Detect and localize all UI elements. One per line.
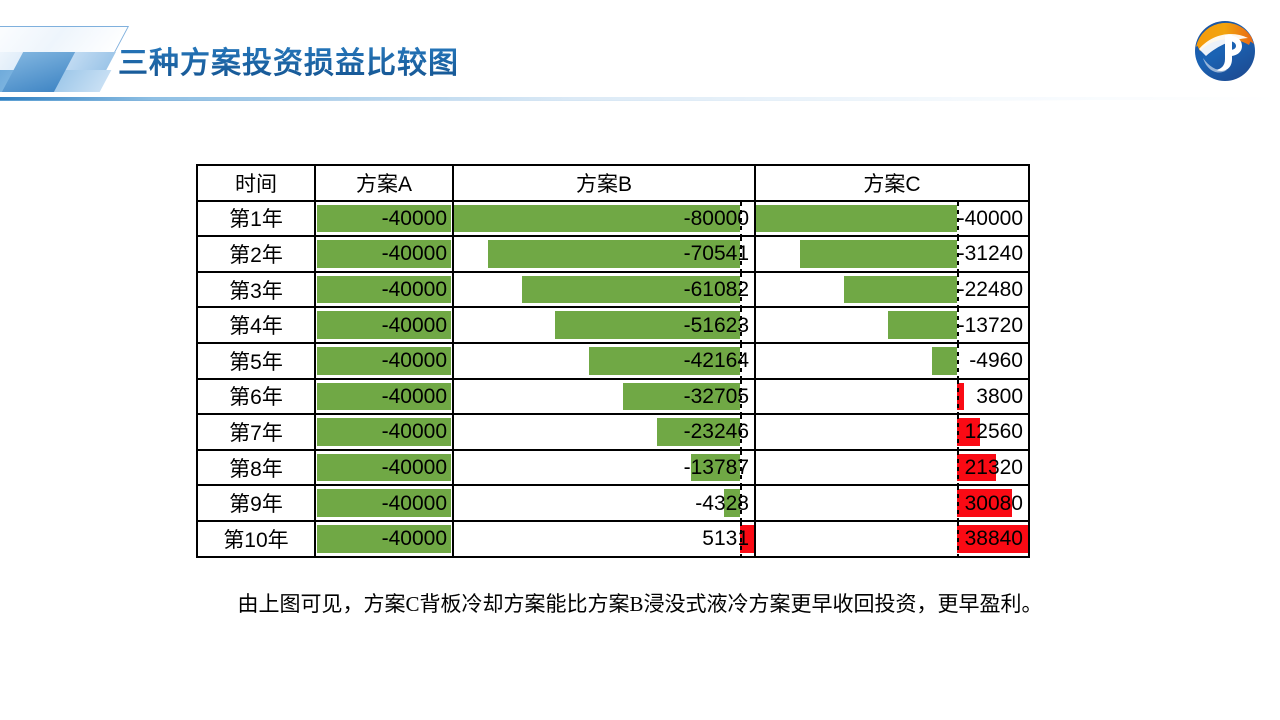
cell-plan-c: 12560 (755, 414, 1029, 450)
row-label-time: 第1年 (197, 201, 315, 237)
cell-value: 38840 (756, 523, 1028, 554)
cell-plan-a: -40000 (315, 236, 453, 272)
cell-value: 5131 (454, 523, 754, 554)
column-header-plan-a: 方案A (315, 165, 453, 201)
cell-value: -40000 (316, 523, 452, 554)
row-label-time: 第8年 (197, 450, 315, 486)
cell-value: -40000 (316, 452, 452, 483)
row-label-time: 第4年 (197, 307, 315, 343)
cell-plan-b: -42164 (453, 343, 755, 379)
cell-value: -40000 (316, 203, 452, 234)
cell-value: -40000 (316, 274, 452, 305)
cell-value: 21320 (756, 452, 1028, 483)
slide: 三种方案投资损益比较图 (0, 0, 1280, 720)
row-label-time: 第5年 (197, 343, 315, 379)
column-header-time: 时间 (197, 165, 315, 201)
cell-plan-a: -40000 (315, 379, 453, 415)
header-divider-thin (0, 100, 1280, 101)
table-row: 第3年-40000-61082-22480 (197, 272, 1029, 308)
cell-plan-c: 30080 (755, 485, 1029, 521)
cell-plan-b: -61082 (453, 272, 755, 308)
table-row: 第5年-40000-42164-4960 (197, 343, 1029, 379)
cell-plan-b: -70541 (453, 236, 755, 272)
column-header-plan-c: 方案C (755, 165, 1029, 201)
cell-value: -40000 (316, 488, 452, 519)
cell-plan-c: -13720 (755, 307, 1029, 343)
cell-plan-c: 38840 (755, 521, 1029, 557)
cell-value: -40000 (316, 381, 452, 412)
cell-value: -40000 (316, 416, 452, 447)
cell-value: -80000 (454, 203, 754, 234)
cell-value: -23246 (454, 416, 754, 447)
table-row: 第2年-40000-70541-31240 (197, 236, 1029, 272)
row-label-time: 第7年 (197, 414, 315, 450)
cell-value: -22480 (756, 274, 1028, 305)
cell-plan-a: -40000 (315, 201, 453, 237)
cell-value: -4328 (454, 488, 754, 519)
cell-plan-c: -22480 (755, 272, 1029, 308)
cell-plan-a: -40000 (315, 414, 453, 450)
company-logo (1192, 18, 1258, 84)
cell-value: -13787 (454, 452, 754, 483)
table-row: 第4年-40000-51623-13720 (197, 307, 1029, 343)
table-row: 第7年-40000-2324612560 (197, 414, 1029, 450)
row-label-time: 第2年 (197, 236, 315, 272)
cell-value: -32705 (454, 381, 754, 412)
cell-value: -31240 (756, 238, 1028, 269)
cell-value: -70541 (454, 238, 754, 269)
cell-plan-c: -4960 (755, 343, 1029, 379)
cell-plan-b: 5131 (453, 521, 755, 557)
table-body: 第1年-40000-80000-40000第2年-40000-70541-312… (197, 201, 1029, 557)
table-row: 第6年-40000-327053800 (197, 379, 1029, 415)
cell-plan-a: -40000 (315, 521, 453, 557)
row-label-time: 第10年 (197, 521, 315, 557)
table-row: 第8年-40000-1378721320 (197, 450, 1029, 486)
cell-value: -61082 (454, 274, 754, 305)
cell-plan-b: -32705 (453, 379, 755, 415)
cell-plan-b: -13787 (453, 450, 755, 486)
cell-plan-b: -23246 (453, 414, 755, 450)
row-label-time: 第9年 (197, 485, 315, 521)
cell-plan-c: -40000 (755, 201, 1029, 237)
cell-plan-a: -40000 (315, 450, 453, 486)
table-row: 第9年-40000-432830080 (197, 485, 1029, 521)
column-header-plan-b: 方案B (453, 165, 755, 201)
table-header-row: 时间 方案A 方案B 方案C (197, 165, 1029, 201)
cell-plan-b: -51623 (453, 307, 755, 343)
row-label-time: 第3年 (197, 272, 315, 308)
investment-comparison-table: 时间 方案A 方案B 方案C 第1年-40000-80000-40000第2年-… (196, 164, 1030, 558)
table-row: 第1年-40000-80000-40000 (197, 201, 1029, 237)
cell-value: 12560 (756, 416, 1028, 447)
row-label-time: 第6年 (197, 379, 315, 415)
cell-value: -4960 (756, 345, 1028, 376)
cell-plan-c: 21320 (755, 450, 1029, 486)
cell-plan-a: -40000 (315, 307, 453, 343)
cell-value: -13720 (756, 310, 1028, 341)
cell-value: -40000 (316, 345, 452, 376)
cell-value: 30080 (756, 488, 1028, 519)
slide-header: 三种方案投资损益比较图 (0, 0, 1280, 100)
cell-value: -51623 (454, 310, 754, 341)
cell-plan-b: -80000 (453, 201, 755, 237)
page-title: 三种方案投资损益比较图 (118, 38, 459, 82)
cell-value: -40000 (316, 238, 452, 269)
slide-caption: 由上图可见，方案C背板冷却方案能比方案B浸没式液冷方案更早收回投资，更早盈利。 (0, 588, 1280, 618)
cell-value: -40000 (756, 203, 1028, 234)
cell-plan-a: -40000 (315, 343, 453, 379)
cell-plan-b: -4328 (453, 485, 755, 521)
cell-value: -40000 (316, 310, 452, 341)
cell-plan-a: -40000 (315, 485, 453, 521)
table-row: 第10年-40000513138840 (197, 521, 1029, 557)
cell-value: 3800 (756, 381, 1028, 412)
cell-value: -42164 (454, 345, 754, 376)
cell-plan-c: 3800 (755, 379, 1029, 415)
cell-plan-c: -31240 (755, 236, 1029, 272)
cell-plan-a: -40000 (315, 272, 453, 308)
